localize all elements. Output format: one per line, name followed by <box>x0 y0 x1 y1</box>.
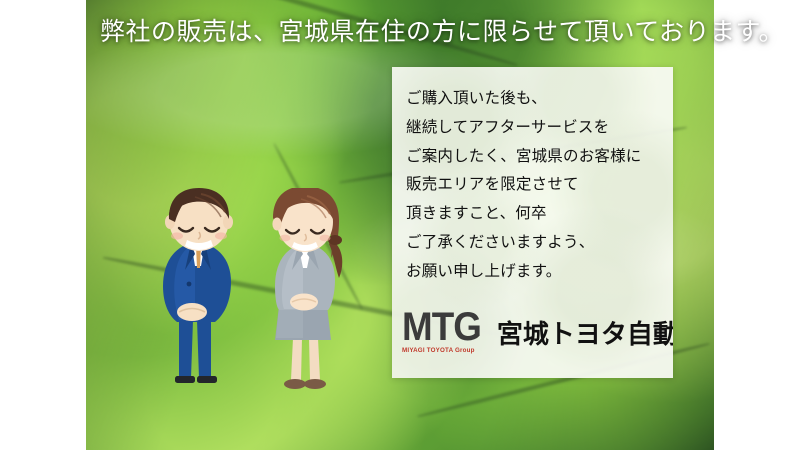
message-line: お願い申し上げます。 <box>406 262 659 283</box>
message-line: 販売エリアを限定させて <box>406 175 659 196</box>
message-line: ご了承くださいますよう、 <box>406 233 659 254</box>
bowing-businessman-figure <box>139 188 259 388</box>
message-body: ご購入頂いた後も、 継続してアフターサービスを ご案内したく、宮城県のお客様に … <box>392 67 673 282</box>
mtg-logo-mark: MTG MIYAGI TOYOTA Group <box>402 307 488 355</box>
company-name-japanese: 宮城トヨタ自動車 <box>497 314 673 354</box>
businesswoman-svg <box>247 188 365 396</box>
mtg-logo-text: MTG <box>402 307 481 347</box>
message-line: ご案内したく、宮城県のお客様に <box>406 147 659 168</box>
businessman-svg <box>139 188 259 388</box>
slide-canvas: 弊社の販売は、宮城県在住の方に限らせて頂いております。 <box>0 0 800 450</box>
company-logo: MTG MIYAGI TOYOTA Group 宮城トヨタ自動車 <box>402 307 673 355</box>
message-line: ご購入頂いた後も、 <box>406 89 659 110</box>
message-panel: ご購入頂いた後も、 継続してアフターサービスを ご案内したく、宮城県のお客様に … <box>392 67 673 378</box>
bowing-staff-illustration <box>135 158 365 388</box>
message-line: 頂きますこと、何卒 <box>406 204 659 225</box>
headline-text: 弊社の販売は、宮城県在住の方に限らせて頂いております。 <box>100 18 700 48</box>
mtg-logo-subtitle: MIYAGI TOYOTA Group <box>402 348 484 355</box>
bowing-businesswoman-figure <box>247 188 365 396</box>
message-line: 継続してアフターサービスを <box>406 118 659 139</box>
